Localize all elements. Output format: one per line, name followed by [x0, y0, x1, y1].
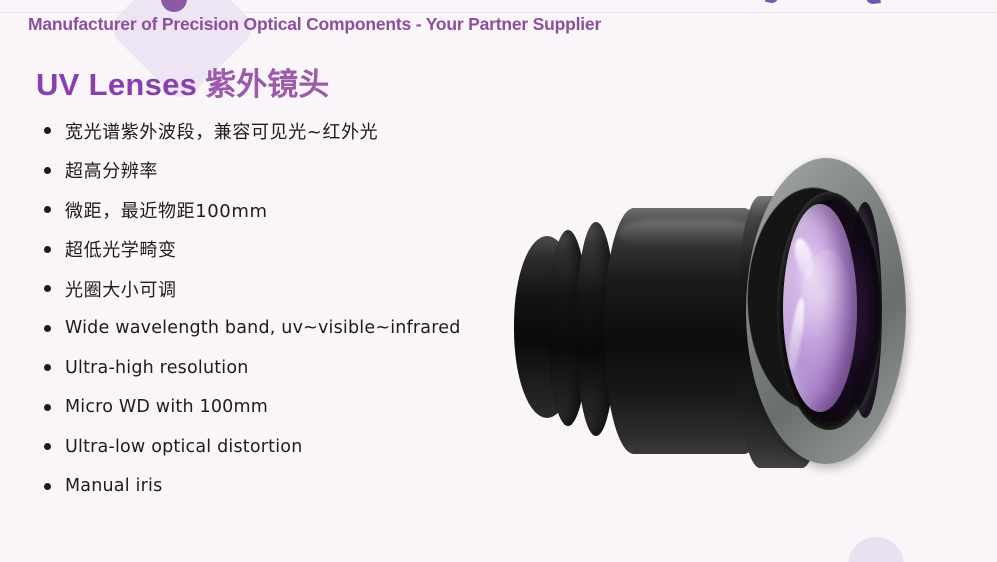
blob-decoration-bottom-icon [848, 537, 904, 562]
bullet-dot-icon [44, 364, 51, 371]
bullet-dot-icon [44, 246, 51, 253]
feature-text: Manual iris [65, 476, 162, 496]
dot-decoration-right-two-icon [865, 0, 881, 5]
company-tagline: Manufacturer of Precision Optical Compon… [28, 14, 601, 35]
feature-text: Wide wavelength band, uv~visible~infrare… [65, 318, 461, 338]
list-item: Wide wavelength band, uv~visible~infrare… [44, 309, 514, 349]
list-item: Micro WD with 100mm [44, 388, 514, 428]
page-title: UV Lenses紫外镜头 [36, 68, 329, 101]
feature-list: 宽光谱紫外波段，兼容可见光~红外光 超高分辨率 微距，最近物距100mm 超低光… [44, 111, 514, 506]
circle-decoration-icon [161, 0, 187, 12]
bullet-dot-icon [44, 167, 51, 174]
bullet-dot-icon [44, 443, 51, 450]
product-image-uv-lens [500, 150, 970, 480]
slide-canvas: Manufacturer of Precision Optical Compon… [0, 0, 997, 562]
bullet-dot-icon [44, 206, 51, 213]
list-item: Ultra-high resolution [44, 348, 514, 388]
dot-decoration-right-one-icon [765, 0, 779, 4]
page-title-chinese: 紫外镜头 [205, 67, 329, 103]
lens-barrel-highlight [618, 220, 758, 246]
list-item: 微距，最近物距100mm [44, 190, 514, 230]
feature-text: Ultra-low optical distortion [65, 437, 303, 457]
feature-text: 超高分辨率 [65, 157, 158, 183]
list-item: 宽光谱紫外波段，兼容可见光~红外光 [44, 111, 514, 151]
feature-text: 超低光学畸变 [65, 236, 177, 262]
bullet-dot-icon [44, 285, 51, 292]
list-item: Manual iris [44, 467, 514, 507]
bullet-dot-icon [44, 483, 51, 490]
list-item: 超低光学畸变 [44, 230, 514, 270]
list-item: 超高分辨率 [44, 151, 514, 191]
bullet-dot-icon [44, 325, 51, 332]
bullet-dot-icon [44, 404, 51, 411]
lens-rim-shadow [848, 202, 882, 418]
page-title-english: UV Lenses [36, 67, 197, 102]
list-item: Ultra-low optical distortion [44, 427, 514, 467]
list-item: 光圈大小可调 [44, 269, 514, 309]
feature-text: 宽光谱紫外波段，兼容可见光~红外光 [65, 118, 378, 144]
bullet-dot-icon [44, 127, 51, 134]
feature-text: Ultra-high resolution [65, 358, 249, 378]
feature-text: 微距，最近物距100mm [65, 197, 268, 223]
feature-text: Micro WD with 100mm [65, 397, 268, 417]
feature-text: 光圈大小可调 [65, 276, 177, 302]
header-divider-line [0, 12, 997, 13]
